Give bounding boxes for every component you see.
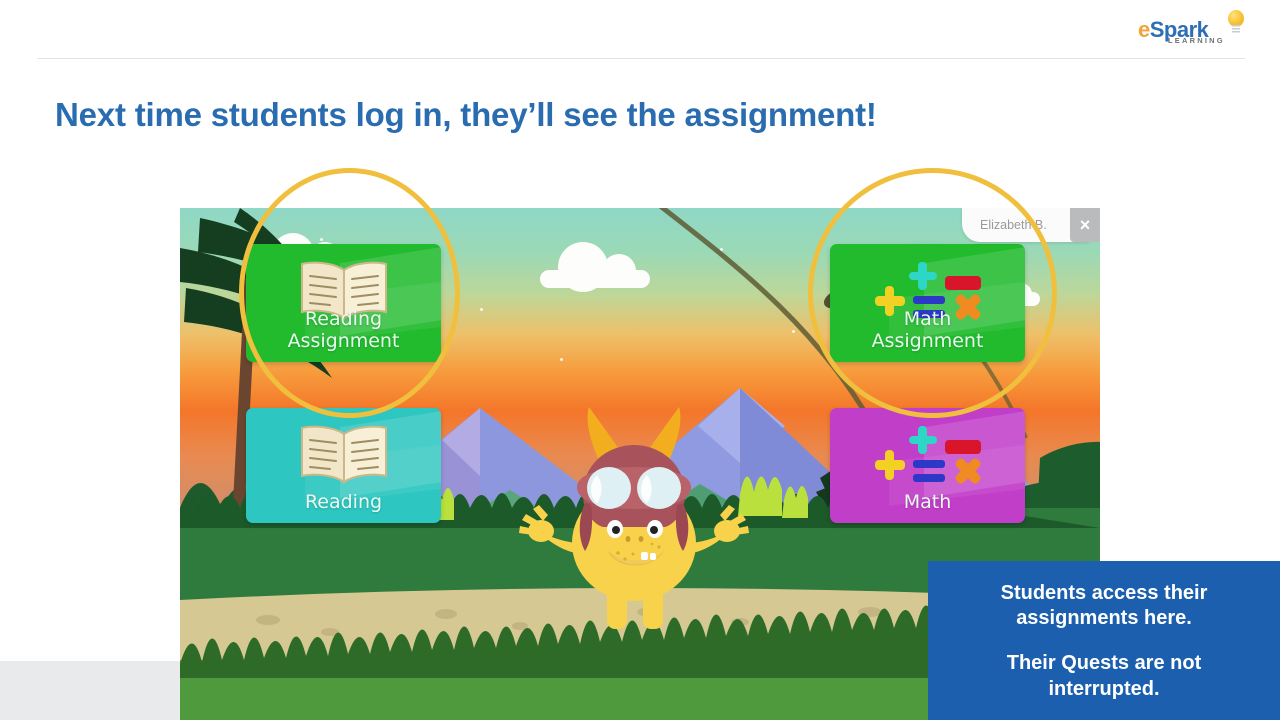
multiply-sign-icon xyxy=(953,456,983,486)
callout-box: Students access their assignments here. … xyxy=(928,561,1280,720)
plus-sign-icon xyxy=(909,426,937,454)
callout-line-4: interrupted. xyxy=(950,677,1258,702)
minus-sign-icon xyxy=(945,440,981,454)
logo-tagline: LEARNING xyxy=(1168,36,1225,45)
tile-reading[interactable]: Reading xyxy=(246,408,441,523)
slide-canvas: eSpark LEARNING Next time students log i… xyxy=(0,0,1280,720)
math-symbols-icon xyxy=(869,420,987,490)
bottom-left-strip xyxy=(0,661,180,720)
tile-label: Math xyxy=(830,492,1025,513)
annotation-circle-math xyxy=(808,168,1057,418)
espark-logo: eSpark LEARNING xyxy=(1138,8,1250,52)
lightbulb-icon xyxy=(1226,10,1246,40)
logo-letter-e: e xyxy=(1138,17,1150,42)
callout-line-3: Their Quests are not xyxy=(950,651,1258,676)
equals-sign-icon xyxy=(913,460,945,482)
tile-math[interactable]: Math xyxy=(830,408,1025,523)
header-divider xyxy=(37,58,1245,59)
callout-line-1: Students access their xyxy=(950,581,1258,606)
annotation-circle-reading xyxy=(239,168,460,418)
monster-mascot-avatar xyxy=(515,403,760,633)
close-icon[interactable]: × xyxy=(1070,208,1100,242)
page-title: Next time students log in, they’ll see t… xyxy=(55,96,1055,134)
callout-line-2: assignments here. xyxy=(950,606,1258,631)
tile-label: Reading xyxy=(246,492,441,513)
plus-sign-icon xyxy=(875,450,905,480)
open-book-icon xyxy=(296,422,392,486)
